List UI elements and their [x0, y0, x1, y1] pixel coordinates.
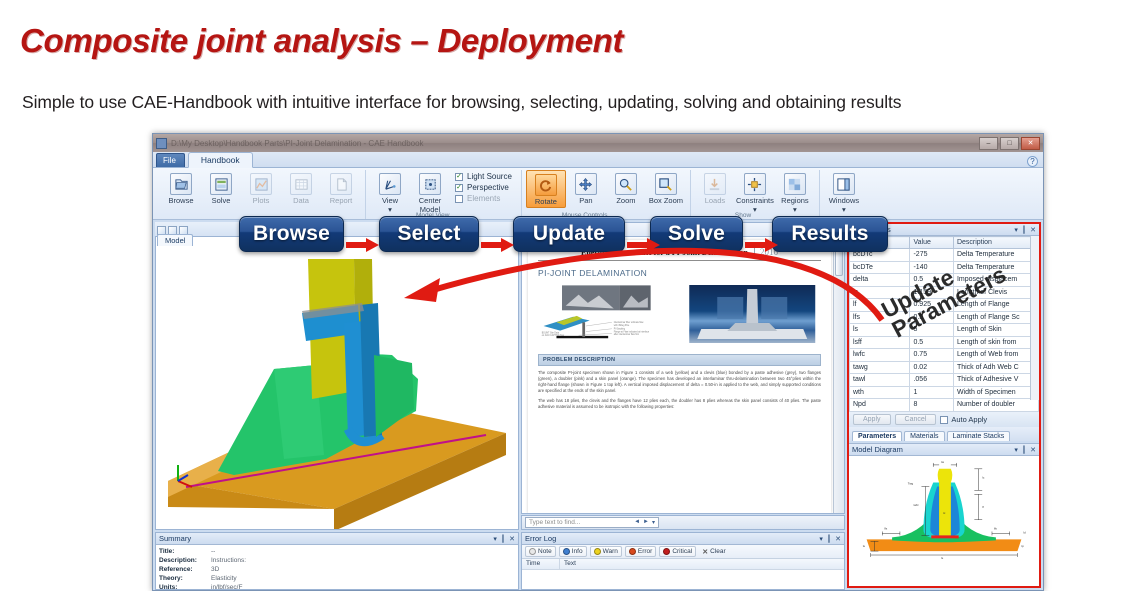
- windows-icon: [833, 173, 855, 195]
- error-log-toolbar: NoteInfoWarnErrorCritical✕Clear: [522, 545, 844, 559]
- table-row[interactable]: lsff0.5Length of skin from: [850, 336, 1039, 349]
- ribbon-group-model-view: View ▾ Center Model ✓ Light Source ✓ Per…: [366, 170, 522, 219]
- ribbon-button-windows[interactable]: Windows ▾: [824, 170, 864, 214]
- tab-materials[interactable]: Materials: [904, 431, 944, 441]
- ribbon-group-windows: Windows ▾: [820, 170, 868, 219]
- summary-value: Elasticity: [211, 574, 237, 583]
- chevron-down-icon[interactable]: ▾: [1014, 226, 1018, 234]
- constraints-icon: [744, 173, 766, 195]
- chevron-down-icon[interactable]: ▾: [819, 535, 823, 543]
- summary-key: Description:: [159, 556, 211, 565]
- column-header-time[interactable]: Time: [522, 559, 560, 569]
- column-header-description[interactable]: Description: [953, 237, 1038, 249]
- log-filter-clear-button[interactable]: ✕Clear: [699, 547, 728, 557]
- close-button[interactable]: ✕: [1021, 137, 1040, 150]
- parameter-name[interactable]: tawl: [850, 374, 910, 387]
- parameter-name[interactable]: wth: [850, 386, 910, 399]
- ribbon-label: Pan: [579, 197, 592, 206]
- checkbox-label: Elements: [467, 194, 500, 203]
- parameter-description[interactable]: Length of Web from: [953, 349, 1038, 362]
- ribbon-button-loads[interactable]: Loads: [695, 170, 735, 206]
- summary-key: Theory:: [159, 574, 211, 583]
- summary-key: Title:: [159, 547, 211, 556]
- ribbon-label: Browse: [168, 197, 193, 206]
- figure-fe-contour: [683, 283, 822, 345]
- ribbon-button-center-model[interactable]: Center Model: [410, 170, 450, 214]
- parameter-name[interactable]: delta: [850, 274, 910, 287]
- workspace: Model: [153, 220, 1043, 590]
- center-model-icon: [419, 173, 441, 195]
- page-subtitle: Simple to use CAE-Handbook with intuitiv…: [22, 92, 901, 113]
- solve-icon: [210, 173, 232, 195]
- apply-button[interactable]: Apply: [853, 414, 891, 425]
- ribbon-label: Loads: [705, 197, 725, 206]
- document-scrollbar[interactable]: [833, 237, 844, 513]
- tab-model[interactable]: Model: [157, 234, 193, 246]
- summary-row: Title:--: [156, 547, 518, 556]
- report-icon: [330, 173, 352, 195]
- dropdown-caret-icon[interactable]: ▾: [842, 206, 846, 215]
- box-zoom-icon: [655, 173, 677, 195]
- ribbon-label: Data: [293, 197, 309, 206]
- window-buttons: – □ ✕: [979, 137, 1040, 150]
- svg-text:Interlaminar fiber ordinate fl: Interlaminar fiber ordinate flaw: [614, 321, 644, 324]
- table-row[interactable]: ls5Length of Skin: [850, 324, 1039, 337]
- pi-joint-cross-section-diagram[interactable]: tw lc lf lwfc ts ls lfs lfs Twg tc tp ld: [849, 456, 1039, 560]
- close-icon[interactable]: ✕: [1030, 226, 1036, 234]
- cae-handbook-window: D:\My Desktop\Handbook Parts\PI-Joint De…: [152, 133, 1044, 591]
- ribbon-button-plots[interactable]: Plots: [241, 170, 281, 206]
- summary-row: Units:in/lbf/sec/F: [156, 583, 518, 591]
- tab-handbook[interactable]: Handbook: [188, 152, 253, 168]
- dropdown-caret-icon[interactable]: ▾: [388, 206, 392, 215]
- help-icon[interactable]: ?: [1027, 156, 1038, 167]
- ribbon-label: Zoom: [616, 197, 635, 206]
- parameter-description[interactable]: Width of Specimen: [953, 386, 1038, 399]
- checkbox-box-icon: [940, 416, 948, 424]
- parameter-value[interactable]: 0.75: [910, 349, 953, 362]
- tab-laminate-stacks[interactable]: Laminate Stacks: [947, 431, 1011, 441]
- find-prev-icon[interactable]: ◄: [634, 519, 640, 526]
- checkbox-label: Perspective: [467, 183, 509, 192]
- svg-text:on 4x10 CAPTIVE flaw: on 4x10 CAPTIVE flaw: [542, 334, 565, 337]
- model-pane: Model: [155, 222, 519, 530]
- parameter-value[interactable]: 0.5: [910, 336, 953, 349]
- checkbox-elements[interactable]: ✓ Elements: [455, 194, 512, 203]
- ribbon-button-constraints[interactable]: Constraints ▾: [735, 170, 775, 214]
- ribbon-button-box-zoom[interactable]: Box Zoom: [646, 170, 686, 206]
- ribbon-tabstrip: File Handbook ?: [153, 152, 1043, 168]
- file-menu-tab[interactable]: File: [156, 153, 185, 167]
- ribbon-button-data[interactable]: Data: [281, 170, 321, 206]
- flow-arrow-3: [627, 238, 661, 252]
- svg-text:Flange at Flaw indicated at in: Flange at Flaw indicated at interface: [614, 330, 650, 333]
- parameter-value[interactable]: -275: [910, 249, 953, 262]
- parameter-description[interactable]: Length of Flange Sc: [953, 311, 1038, 324]
- ribbon-group-main: Browse Solve Plots Data: [157, 170, 366, 219]
- cancel-button[interactable]: Cancel: [895, 414, 937, 425]
- check-icon: ✓: [455, 184, 463, 192]
- ribbon-toolbar: Browse Solve Plots Data: [153, 168, 1043, 220]
- flow-arrow-1: [346, 238, 380, 252]
- parameter-name[interactable]: Npd: [850, 399, 910, 412]
- figure-right: [683, 283, 822, 350]
- summary-value: Instructions:: [211, 556, 246, 565]
- callout-browse[interactable]: Browse: [239, 216, 344, 252]
- parameter-name[interactable]: tawg: [850, 361, 910, 374]
- svg-text:BOUNT Site Data: BOUNT Site Data: [542, 331, 560, 334]
- parameter-description[interactable]: Length of Skin: [953, 324, 1038, 337]
- error-log-panel: Error Log ▾ ┃ ✕ NoteInfoWarnErrorCritica…: [521, 532, 845, 590]
- maximize-button[interactable]: □: [1000, 137, 1019, 150]
- document-paragraph-2: The web has 18 plies, the clevis and the…: [538, 398, 821, 410]
- log-filter-critical-button[interactable]: Critical: [659, 546, 696, 557]
- ribbon-button-report[interactable]: Report: [321, 170, 361, 206]
- regions-icon: [784, 173, 806, 195]
- document-findbar: Type text to find... ◄ ► ▾: [521, 515, 845, 530]
- chevron-down-icon[interactable]: ▾: [1014, 446, 1018, 454]
- info-dot-icon: [563, 548, 570, 555]
- svg-text:ld: ld: [1023, 530, 1026, 534]
- parameter-name[interactable]: lwfc: [850, 349, 910, 362]
- auto-apply-label: Auto Apply: [951, 415, 987, 424]
- flow-arrow-2: [481, 238, 515, 252]
- summary-row: Reference:3D: [156, 565, 518, 574]
- model-diagram-title: Model Diagram: [852, 445, 903, 454]
- summary-body: Title:--Description:Instructions:Referen…: [156, 545, 518, 591]
- parameters-bottom-tabs: Parameters Materials Laminate Stacks: [849, 427, 1039, 441]
- view-axes-icon: [379, 173, 401, 195]
- log-filter-label: Critical: [672, 548, 692, 555]
- pin-icon[interactable]: ┃: [1022, 446, 1026, 454]
- summary-panel: Summary ▾ ┃ ✕ Title:--Description:Instru…: [155, 532, 519, 590]
- tab-parameters[interactable]: Parameters: [852, 431, 902, 441]
- svg-text:PI-Stacking: PI-Stacking: [614, 328, 626, 331]
- summary-row: Description:Instructions:: [156, 556, 518, 565]
- page-title: Composite joint analysis – Deployment: [20, 22, 623, 60]
- find-options-icon[interactable]: ▾: [652, 519, 655, 526]
- table-row[interactable]: lwfc0.75Length of Web from: [850, 349, 1039, 362]
- pi-joint-3d-model: [156, 237, 518, 529]
- panel-controls: ▾ ┃ ✕: [493, 535, 515, 543]
- close-icon[interactable]: ✕: [835, 535, 841, 543]
- panel-controls: ▾ ┃ ✕: [1014, 226, 1036, 234]
- parameters-table: Name Value Description bcDTc-275Delta Te…: [849, 236, 1039, 412]
- warn-dot-icon: [594, 548, 601, 555]
- figure-specimen-photos: Interlaminar fiber ordinate flaw with 45…: [538, 283, 677, 345]
- parameter-description[interactable]: Length of skin from: [953, 336, 1038, 349]
- parameters-table-wrap[interactable]: Name Value Description bcDTc-275Delta Te…: [849, 236, 1039, 412]
- svg-text:with 45deg fibre: with 45deg fibre: [614, 324, 630, 327]
- summary-panel-header: Summary ▾ ┃ ✕: [156, 533, 518, 545]
- document-figures: Interlaminar fiber ordinate flaw with 45…: [538, 283, 821, 350]
- svg-text:Twg: Twg: [908, 481, 914, 485]
- pan-icon: [575, 173, 597, 195]
- find-input[interactable]: Type text to find... ◄ ► ▾: [525, 517, 659, 528]
- data-icon: [290, 173, 312, 195]
- window-title: D:\My Desktop\Handbook Parts\PI-Joint De…: [171, 139, 975, 148]
- parameters-apply-row: Apply Cancel Auto Apply: [849, 412, 1039, 427]
- ribbon-label: Rotate: [535, 198, 557, 207]
- model-diagram-panel: Model Diagram ▾ ┃ ✕: [849, 443, 1039, 586]
- summary-key: Reference:: [159, 565, 211, 574]
- ribbon-button-regions[interactable]: Regions ▾: [775, 170, 815, 214]
- model-diagram-header: Model Diagram ▾ ┃ ✕: [849, 444, 1039, 456]
- svg-text:lwfc: lwfc: [914, 503, 920, 507]
- summary-value: --: [211, 547, 215, 556]
- loads-icon: [704, 173, 726, 195]
- callout-results[interactable]: Results: [772, 216, 888, 252]
- panel-controls: ▾ ┃ ✕: [819, 535, 841, 543]
- log-filter-label: Warn: [603, 548, 618, 555]
- plots-icon: [250, 173, 272, 195]
- minimize-button[interactable]: –: [979, 137, 998, 150]
- ribbon-group-show: Loads Constraints ▾ Regions ▾ Show: [691, 170, 820, 219]
- error-log-header: Error Log ▾ ┃ ✕: [522, 533, 844, 545]
- log-filter-info-button[interactable]: Info: [559, 546, 587, 557]
- ribbon-button-pan[interactable]: Pan: [566, 170, 606, 206]
- application-icon: [156, 138, 167, 149]
- summary-key: Units:: [159, 583, 211, 591]
- table-row[interactable]: tawg0.02Thick of Adh Web C: [850, 361, 1039, 374]
- ribbon-button-rotate[interactable]: Rotate: [526, 170, 566, 208]
- check-icon: ✓: [455, 173, 463, 181]
- document-paragraph-1: The composite PI-joint specimen shown in…: [538, 370, 821, 394]
- parameter-value[interactable]: .056: [910, 374, 953, 387]
- summary-panel-title: Summary: [159, 534, 191, 543]
- callout-update[interactable]: Update: [513, 216, 625, 252]
- callout-solve[interactable]: Solve: [650, 216, 743, 252]
- window-titlebar: D:\My Desktop\Handbook Parts\PI-Joint De…: [153, 134, 1043, 152]
- checkbox-light-source[interactable]: ✓ Light Source: [455, 172, 512, 181]
- summary-value: in/lbf/sec/F: [211, 583, 242, 591]
- close-icon[interactable]: ✕: [509, 535, 515, 543]
- log-filter-label: Info: [572, 548, 583, 555]
- ribbon-label: Plots: [253, 197, 270, 206]
- find-next-icon[interactable]: ►: [643, 519, 649, 526]
- column-header-text[interactable]: Text: [560, 559, 844, 569]
- ribbon-button-browse[interactable]: Browse: [161, 170, 201, 206]
- log-filter-note-button[interactable]: Note: [525, 546, 556, 557]
- parameter-value[interactable]: 0.02: [910, 361, 953, 374]
- table-row[interactable]: tawl.056Thick of Adhesive V: [850, 374, 1039, 387]
- log-filter-error-button[interactable]: Error: [625, 546, 656, 557]
- check-icon: ✓: [455, 195, 463, 203]
- svg-text:after interlaminar flaw first: after interlaminar flaw first: [614, 333, 640, 336]
- log-filter-label: Note: [538, 548, 552, 555]
- model-view-checkboxes: ✓ Light Source ✓ Perspective ✓ Elements: [450, 170, 517, 205]
- document-heading: PI-JOINT DELAMINATION: [538, 268, 821, 278]
- parameter-description[interactable]: Thick of Adh Web C: [953, 361, 1038, 374]
- parameter-value[interactable]: 8: [910, 399, 953, 412]
- parameter-description[interactable]: Number of doubler: [953, 399, 1038, 412]
- chevron-down-icon[interactable]: ▾: [493, 535, 497, 543]
- note-dot-icon: [529, 548, 536, 555]
- pin-icon[interactable]: ┃: [1022, 226, 1026, 234]
- find-placeholder: Type text to find...: [529, 519, 580, 526]
- error-log-columns: Time Text: [522, 559, 844, 570]
- parameter-value[interactable]: 1: [910, 386, 953, 399]
- ribbon-label: Box Zoom: [649, 197, 683, 206]
- pin-icon[interactable]: ┃: [827, 535, 831, 543]
- parameter-description[interactable]: Thick of Adhesive V: [953, 374, 1038, 387]
- figure-left: Interlaminar fiber ordinate flaw with 45…: [538, 283, 677, 350]
- checkbox-label: Light Source: [467, 172, 512, 181]
- critical-dot-icon: [663, 548, 670, 555]
- zoom-icon: [615, 173, 637, 195]
- svg-text:tp: tp: [1021, 544, 1024, 548]
- clear-x-icon: ✕: [702, 548, 708, 556]
- ribbon-label: Solve: [212, 197, 231, 206]
- log-filter-warn-button[interactable]: Warn: [590, 546, 622, 557]
- ribbon-button-view[interactable]: View ▾: [370, 170, 410, 214]
- model-3d-viewport[interactable]: [155, 236, 519, 530]
- folder-open-icon: [170, 173, 192, 195]
- log-filter-label: Clear: [710, 548, 726, 555]
- find-navigation[interactable]: ◄ ► ▾: [634, 519, 655, 526]
- checkbox-perspective[interactable]: ✓ Perspective: [455, 183, 512, 192]
- summary-row: Theory:Elasticity: [156, 574, 518, 583]
- document-page: Energy Release Rate for a PI-Joint Delam…: [528, 240, 831, 513]
- ribbon-button-zoom[interactable]: Zoom: [606, 170, 646, 206]
- flow-arrow-4: [745, 238, 779, 252]
- table-row[interactable]: Npd8Number of doubler: [850, 399, 1039, 412]
- document-section-title: PROBLEM DESCRIPTION: [538, 354, 821, 366]
- column-header-value[interactable]: Value: [910, 237, 953, 249]
- close-icon[interactable]: ✕: [1030, 446, 1036, 454]
- pin-icon[interactable]: ┃: [501, 535, 505, 543]
- ribbon-label: Report: [330, 197, 353, 206]
- log-filter-label: Error: [638, 548, 652, 555]
- parameters-scrollbar[interactable]: [1030, 236, 1039, 400]
- auto-apply-checkbox[interactable]: Auto Apply: [940, 415, 987, 424]
- dropdown-caret-icon[interactable]: ▾: [753, 206, 757, 215]
- document-pane: 🔍 🔍 ▦ ▥ ▤ ▣ Energy Release Rate for a PI…: [521, 222, 845, 530]
- document-viewer[interactable]: Energy Release Rate for a PI-Joint Delam…: [521, 236, 845, 514]
- parameter-name[interactable]: bcDTe: [850, 261, 910, 274]
- ribbon-button-solve[interactable]: Solve: [201, 170, 241, 206]
- dropdown-caret-icon[interactable]: ▾: [793, 206, 797, 215]
- rotate-icon: [535, 174, 557, 196]
- error-log-title: Error Log: [525, 534, 556, 543]
- table-row[interactable]: wth1Width of Specimen: [850, 386, 1039, 399]
- error-dot-icon: [629, 548, 636, 555]
- svg-text:lf: lf: [982, 505, 984, 509]
- panel-controls: ▾ ┃ ✕: [1014, 446, 1036, 454]
- ribbon-group-mouse-controls: Rotate Pan Zoom Box Zoom Mouse Con: [522, 170, 691, 219]
- summary-value: 3D: [211, 565, 219, 574]
- callout-select[interactable]: Select: [379, 216, 479, 252]
